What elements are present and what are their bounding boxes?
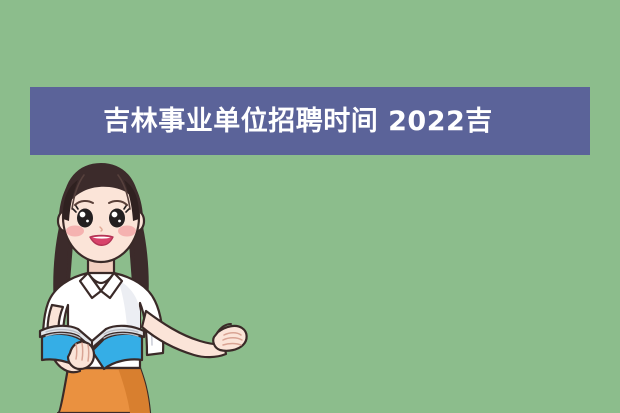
cartoon-girl-illustration	[18, 155, 278, 413]
banner-title-text: 吉林事业单位招聘时间 2022吉	[103, 108, 493, 135]
image-canvas: 吉林事业单位招聘时间 2022吉	[0, 0, 620, 413]
title-banner: 吉林事业单位招聘时间 2022吉	[30, 87, 590, 155]
